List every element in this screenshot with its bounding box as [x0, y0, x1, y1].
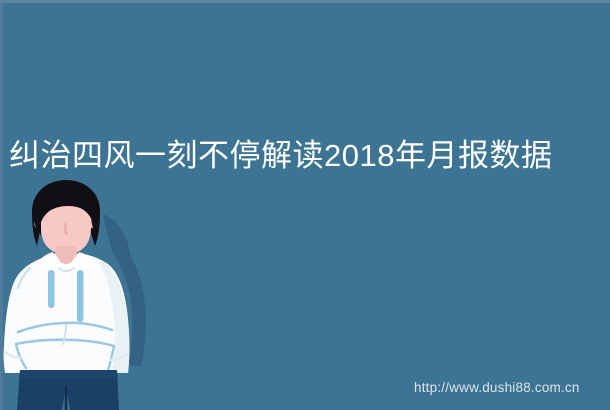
top-edge-line [0, 0, 610, 3]
nose [65, 224, 66, 234]
pants-waist-shade [19, 370, 118, 378]
page-title: 纠治四风一刻不停解读2018年月报数据 [9, 136, 601, 176]
person-illustration [0, 180, 175, 410]
article-cover-banner: 纠治四风一刻不停解读2018年月报数据 http://www.dushi88.c… [0, 0, 610, 410]
drawstring-right [77, 270, 84, 322]
watermark-url: http://www.dushi88.com.cn [414, 379, 594, 397]
drawstring-left [48, 270, 55, 308]
